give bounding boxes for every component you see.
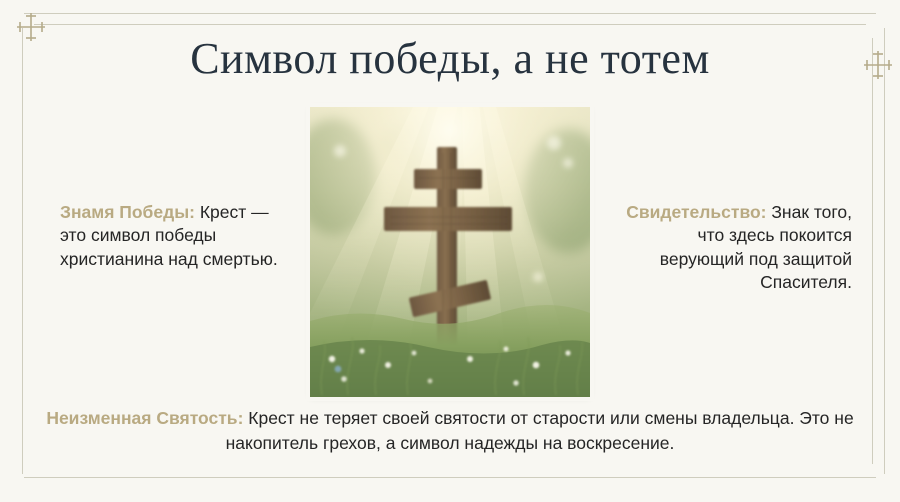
text-block-bottom: Неизменная Святость: Крест не теряет сво… <box>44 406 856 456</box>
frame-line-left <box>22 28 23 474</box>
cross-photo-illustration <box>310 107 590 397</box>
text-block-right: Свидетельство: Знак того, что здесь поко… <box>612 201 852 295</box>
frame-line-right-inner <box>872 38 873 464</box>
text-block-left: Знамя Победы: Крест — это символ победы … <box>60 201 292 271</box>
slide-root: Символ победы, а не тотем <box>0 0 900 502</box>
text-block-right-label: Свидетельство: <box>626 202 766 222</box>
cross-photo <box>310 107 590 397</box>
text-block-bottom-body: Крест не теряет своей святости от старос… <box>226 408 854 453</box>
frame-line-bottom <box>24 477 876 478</box>
frame-line-right-outer <box>884 28 885 474</box>
text-block-bottom-label: Неизменная Святость: <box>46 408 243 428</box>
slide-title: Символ победы, а не тотем <box>0 36 900 82</box>
text-block-left-label: Знамя Победы: <box>60 202 195 222</box>
frame-line-top-inner <box>34 24 866 25</box>
frame-line-top-outer <box>24 13 876 14</box>
